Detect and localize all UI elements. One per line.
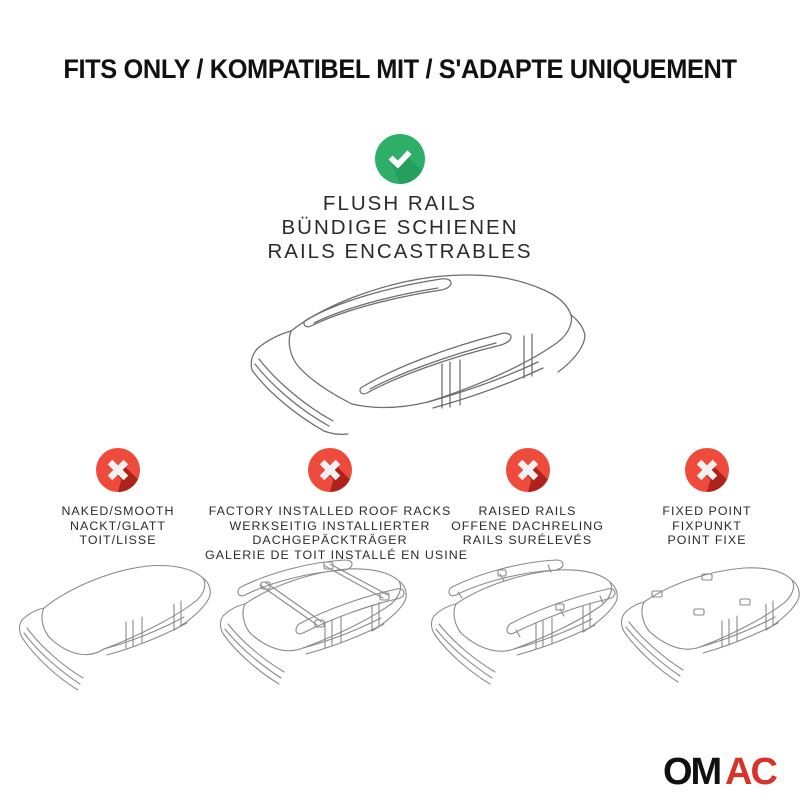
- badge-wrap: [612, 448, 800, 500]
- label-de-1: WERKSEITIG INSTALLIERTER: [205, 519, 455, 534]
- x-circle-icon: [685, 448, 729, 492]
- label-en: FACTORY INSTALLED ROOF RACKS: [205, 504, 455, 519]
- check-circle-icon: [375, 134, 425, 184]
- label-en: NAKED/SMOOTH: [8, 504, 228, 519]
- omac-logo: OM AC: [663, 752, 793, 792]
- label-fr: RAILS SURÉLEVÉS: [420, 533, 635, 548]
- label-fr: TOIT/LISSE: [8, 533, 228, 548]
- approved-label-en: FLUSH RAILS: [0, 192, 800, 216]
- excluded-labels: NAKED/SMOOTH NACKT/GLATT TOIT/LISSE: [8, 504, 228, 548]
- car-roof-fixed-point-illustration: [612, 554, 800, 704]
- approved-section: FLUSH RAILS BÜNDIGE SCHIENEN RAILS ENCAS…: [0, 134, 800, 264]
- omac-logo-svg: OM AC: [663, 752, 793, 792]
- car-roof-crossbars-illustration: [205, 552, 455, 702]
- x-circle-icon: [96, 448, 140, 492]
- car-roof-flush-rails-svg: [228, 268, 588, 438]
- car-roof-fixed-point-svg: [612, 554, 800, 704]
- excluded-labels: FIXED POINT FIXPUNKT POINT FIXE: [612, 504, 800, 548]
- excluded-item-naked-smooth: NAKED/SMOOTH NACKT/GLATT TOIT/LISSE: [8, 448, 228, 704]
- label-en: RAISED RAILS: [420, 504, 635, 519]
- x-circle-icon: [506, 448, 550, 492]
- car-roof-naked-svg: [8, 554, 218, 704]
- excluded-item-factory-roof-racks: FACTORY INSTALLED ROOF RACKS WERKSEITIG …: [205, 448, 455, 702]
- approved-label-de: BÜNDIGE SCHIENEN: [0, 216, 800, 240]
- badge-wrap: [420, 448, 635, 500]
- label-fr: GALERIE DE TOIT INSTALLÉ EN USINE: [205, 548, 455, 563]
- label-de: OFFENE DACHRELING: [420, 519, 635, 534]
- excluded-item-raised-rails: RAISED RAILS OFFENE DACHRELING RAILS SUR…: [420, 448, 635, 704]
- label-de: FIXPUNKT: [612, 519, 800, 534]
- label-de-2: DACHGEPÄCKTRÄGER: [205, 533, 455, 548]
- page-title: FITS ONLY / KOMPATIBEL MIT / S'ADAPTE UN…: [24, 54, 776, 85]
- label-en: FIXED POINT: [612, 504, 800, 519]
- car-roof-naked-illustration: [8, 554, 228, 704]
- approved-labels: FLUSH RAILS BÜNDIGE SCHIENEN RAILS ENCAS…: [0, 192, 800, 264]
- car-roof-raised-rails-svg: [420, 554, 635, 704]
- car-roof-crossbars-svg: [205, 552, 425, 702]
- x-circle-icon: [308, 448, 352, 492]
- badge-wrap: [8, 448, 228, 500]
- label-de: NACKT/GLATT: [8, 519, 228, 534]
- omac-logo-red: AC: [725, 752, 777, 792]
- approved-label-fr: RAILS ENCASTRABLES: [0, 240, 800, 264]
- excluded-labels: RAISED RAILS OFFENE DACHRELING RAILS SUR…: [420, 504, 635, 548]
- label-fr: POINT FIXE: [612, 533, 800, 548]
- badge-wrap: [205, 448, 455, 500]
- omac-logo-dark: OM: [663, 752, 721, 792]
- car-roof-raised-rails-illustration: [420, 554, 635, 704]
- excluded-labels: FACTORY INSTALLED ROOF RACKS WERKSEITIG …: [205, 504, 455, 562]
- excluded-item-fixed-point: FIXED POINT FIXPUNKT POINT FIXE: [612, 448, 800, 704]
- car-roof-flush-rails-illustration: [228, 268, 588, 438]
